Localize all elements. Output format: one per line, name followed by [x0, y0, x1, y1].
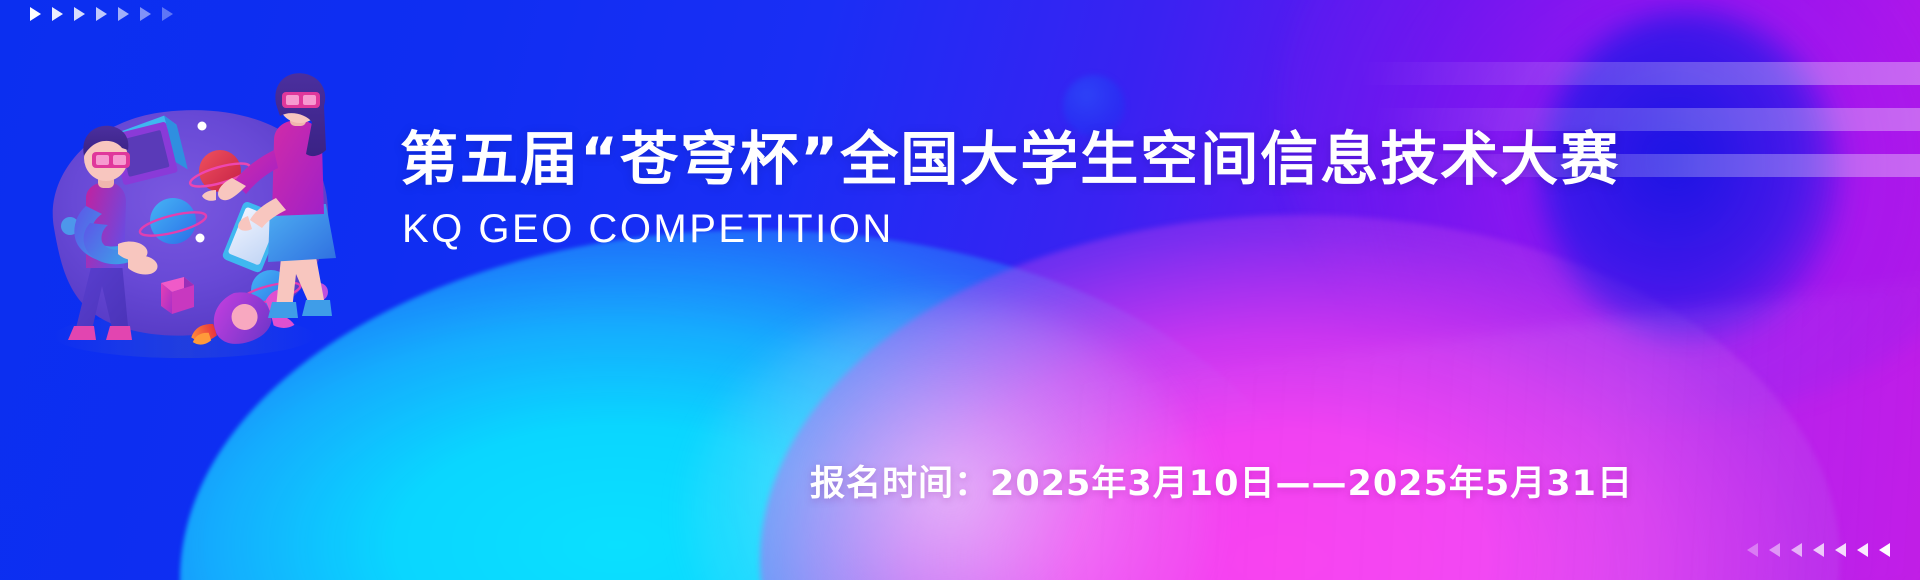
page-subtitle: KQ GEO COMPETITION: [402, 207, 1900, 251]
vr-space-exploration-illustration: [24, 78, 344, 378]
chevron-right-icon: [140, 7, 151, 21]
chevron-left-icon: [1835, 543, 1846, 557]
chevron-right-icon: [52, 7, 63, 21]
headline-block: 第五届“苍穹杯”全国大学生空间信息技术大赛 KQ GEO COMPETITION: [400, 125, 1900, 251]
stripe-1: [1360, 62, 1920, 85]
chevron-left-icon: [1769, 543, 1780, 557]
chevron-right-icon: [118, 7, 129, 21]
chevron-left-icon: [1879, 543, 1890, 557]
arrow-row-bottom-right: [1747, 543, 1890, 557]
chevron-right-icon: [162, 7, 173, 21]
chevron-right-icon: [74, 7, 85, 21]
chevron-right-icon: [30, 7, 41, 21]
page-title: 第五届“苍穹杯”全国大学生空间信息技术大赛: [400, 125, 1900, 193]
chevron-right-icon: [96, 7, 107, 21]
star: [198, 122, 207, 131]
chevron-left-icon: [1813, 543, 1824, 557]
arrow-row-top-left: [30, 7, 173, 21]
star: [196, 234, 205, 243]
chevron-left-icon: [1791, 543, 1802, 557]
registration-period-text: 报名时间：2025年3月10日——2025年5月31日: [810, 455, 1633, 506]
competition-banner: 第五届“苍穹杯”全国大学生空间信息技术大赛 KQ GEO COMPETITION…: [0, 0, 1920, 580]
chevron-left-icon: [1747, 543, 1758, 557]
pink-cube: [161, 277, 194, 314]
chevron-left-icon: [1857, 543, 1868, 557]
